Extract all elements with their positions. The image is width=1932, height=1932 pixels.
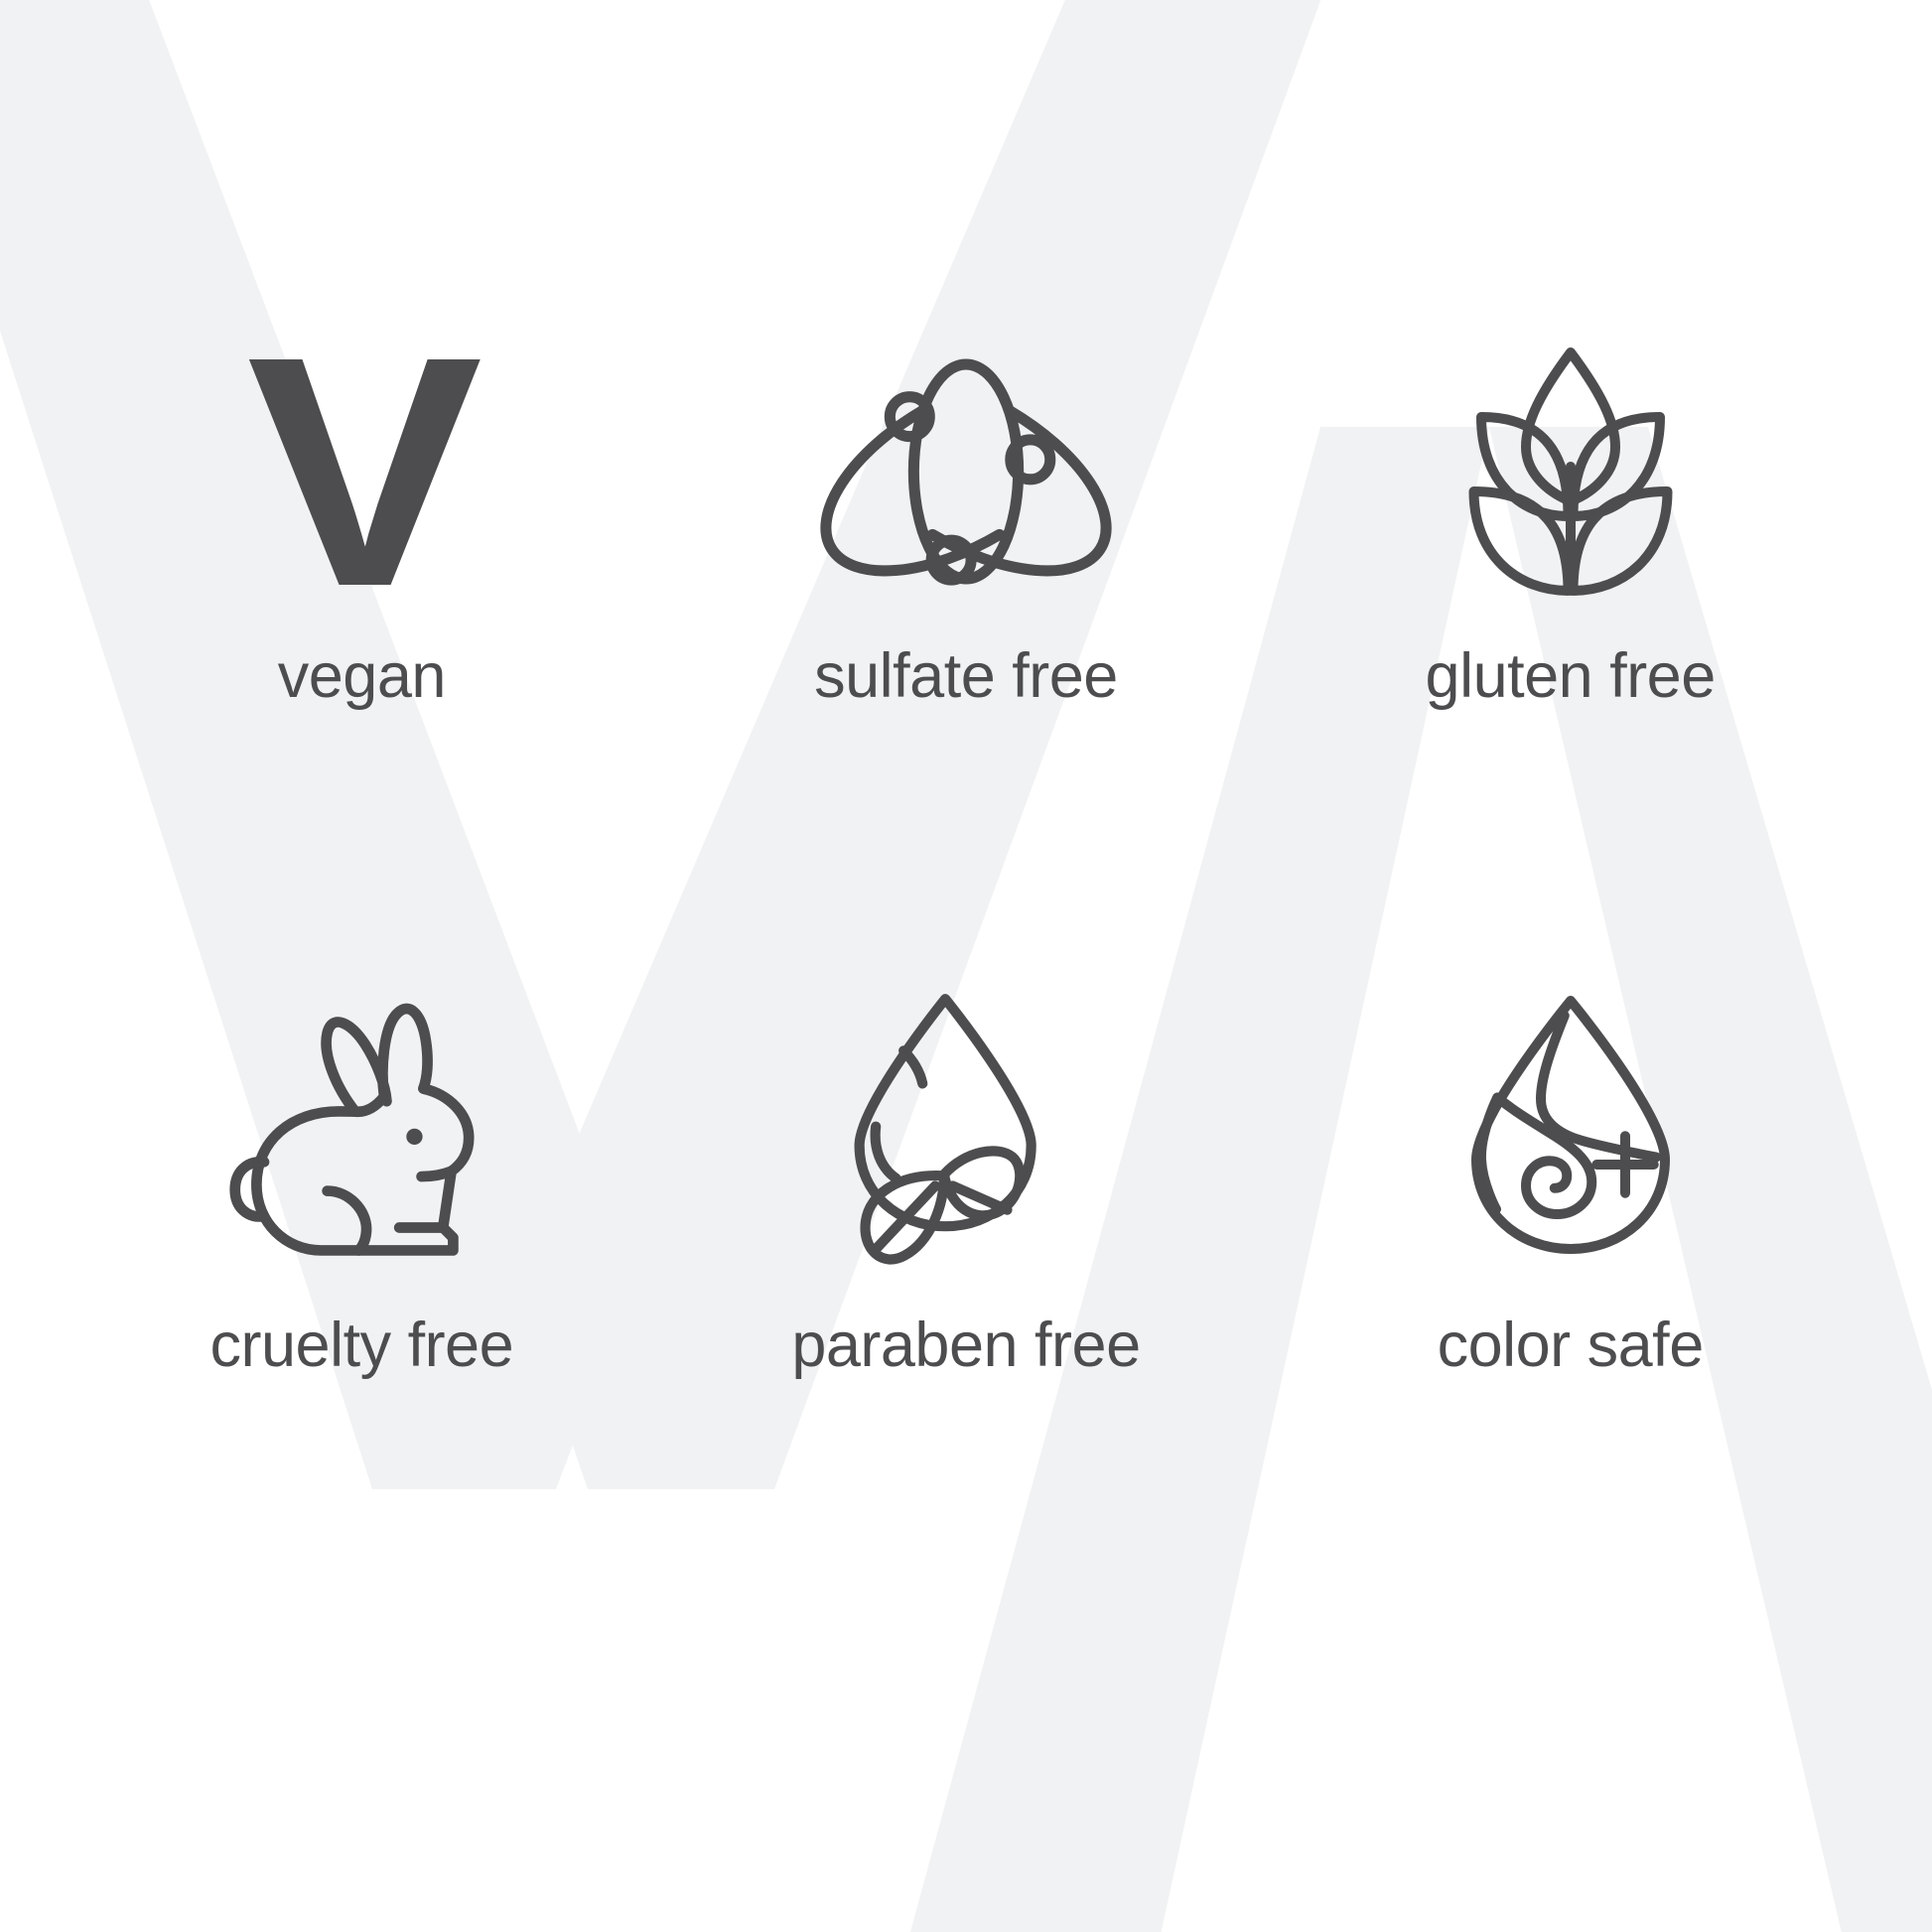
letter-v-icon: V xyxy=(255,328,468,616)
badge-label-cruelty-free: cruelty free xyxy=(210,1314,514,1377)
badge-grid: V vegan xyxy=(0,0,1932,1932)
product-claims-badge-sheet: V vegan xyxy=(0,0,1932,1932)
badge-label-vegan: vegan xyxy=(278,645,446,708)
badge-cruelty-free[interactable]: cruelty free xyxy=(60,981,664,1634)
droplet-leaves-icon-svg xyxy=(839,989,1092,1272)
badge-label-color-safe: color safe xyxy=(1438,1314,1704,1377)
badge-label-sulfate-free: sulfate free xyxy=(814,645,1118,708)
droplet-leaves-icon xyxy=(839,981,1092,1279)
badge-sulfate-free[interactable]: sulfate free xyxy=(664,328,1269,981)
droplet-swirl-plus-icon xyxy=(1447,981,1695,1279)
wheat-leaves-icon xyxy=(1447,328,1695,616)
badge-color-safe[interactable]: color safe xyxy=(1268,981,1872,1634)
badge-label-gluten-free: gluten free xyxy=(1426,645,1716,708)
badge-paraben-free[interactable]: paraben free xyxy=(664,981,1269,1634)
rabbit-icon-svg xyxy=(222,994,500,1267)
wheat-icon-svg xyxy=(1447,338,1695,606)
droplet-swirl-plus-icon-svg xyxy=(1447,991,1695,1269)
letter-v-glyph: V xyxy=(247,338,477,607)
atom-icon xyxy=(832,328,1100,616)
rabbit-icon xyxy=(222,981,500,1279)
badge-vegan[interactable]: V vegan xyxy=(60,328,664,981)
badge-label-paraben-free: paraben free xyxy=(791,1314,1140,1377)
atom-icon-svg xyxy=(832,338,1100,606)
badge-gluten-free[interactable]: gluten free xyxy=(1268,328,1872,981)
